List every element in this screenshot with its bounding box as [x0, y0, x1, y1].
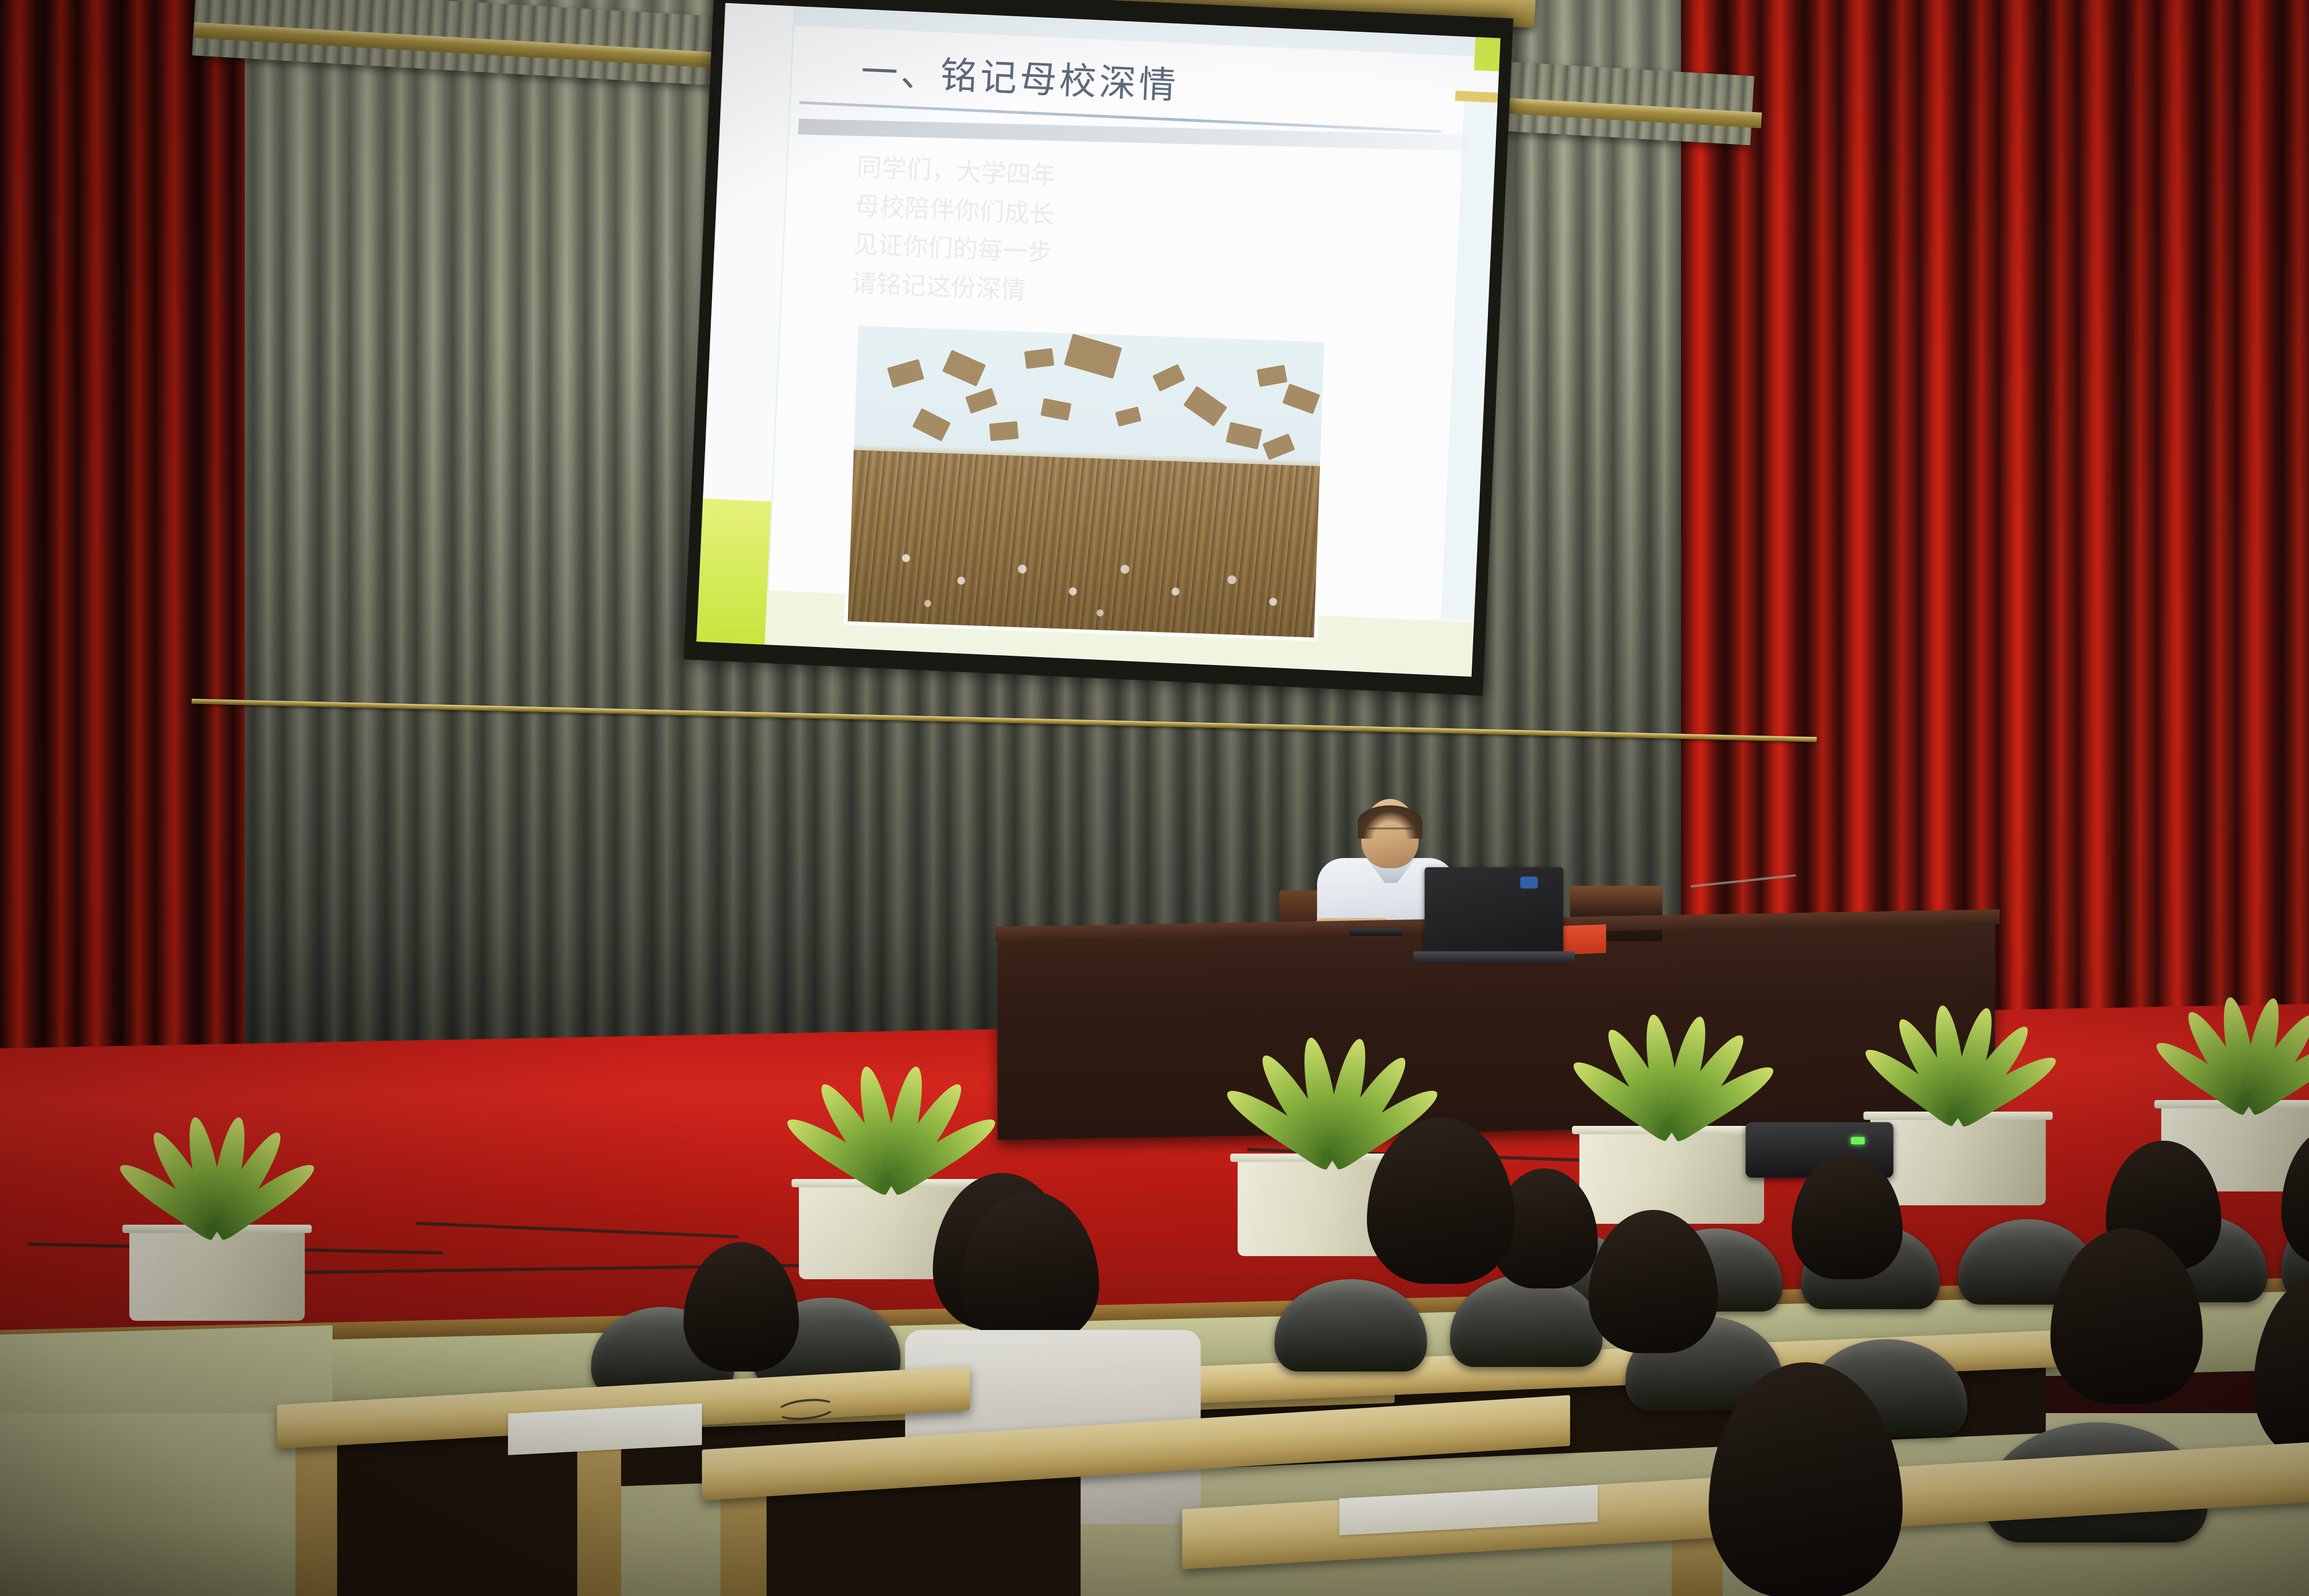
slide-right-tan-band — [1455, 91, 1498, 103]
laptop-keyboard[interactable] — [1413, 951, 1575, 963]
lecture-hall-scene: 一、铭记母校深情 同学们，大学四年 母校陪伴你们成长 见证你们的每一步 请铭记这… — [0, 0, 2309, 1596]
graduates-crowd — [848, 450, 1320, 637]
slide-surface: 一、铭记母校深情 同学们，大学四年 母校陪伴你们成长 见证你们的每一步 请铭记这… — [696, 3, 1500, 677]
red-curtain-left — [0, 0, 245, 1076]
microphone[interactable] — [1348, 928, 1404, 936]
speaker-glasses-icon — [1368, 828, 1413, 839]
plant-pot — [1579, 1129, 1764, 1224]
potted-plant — [129, 1127, 305, 1321]
plant-pot — [1870, 1114, 2046, 1205]
slide-body-text: 同学们，大学四年 母校陪伴你们成长 见证你们的每一步 请铭记这份深情 — [851, 148, 1407, 327]
projection-screen[interactable]: 一、铭记母校深情 同学们，大学四年 母校陪伴你们成长 见证你们的每一步 请铭记这… — [691, 0, 1507, 719]
potted-plant — [1870, 1016, 2046, 1205]
laptop-screen[interactable] — [1425, 867, 1563, 960]
slide-right-column — [1441, 101, 1498, 621]
plant-pot — [129, 1227, 305, 1321]
bottle-cap — [1520, 877, 1538, 889]
screen-frame: 一、铭记母校深情 同学们，大学四年 母校陪伴你们成长 见证你们的每一步 请铭记这… — [683, 0, 1513, 695]
slide-right-green-accent — [1474, 37, 1500, 71]
potted-plant — [1579, 1025, 1764, 1224]
slide-green-accent-block — [696, 498, 771, 644]
desk-leg — [577, 1432, 621, 1596]
graduation-photo — [848, 326, 1324, 638]
power-led-icon — [1851, 1137, 1865, 1144]
slide-divider-shadow — [798, 119, 1468, 151]
desk-leg — [296, 1422, 337, 1596]
slide-title: 一、铭记母校深情 — [860, 42, 1180, 109]
